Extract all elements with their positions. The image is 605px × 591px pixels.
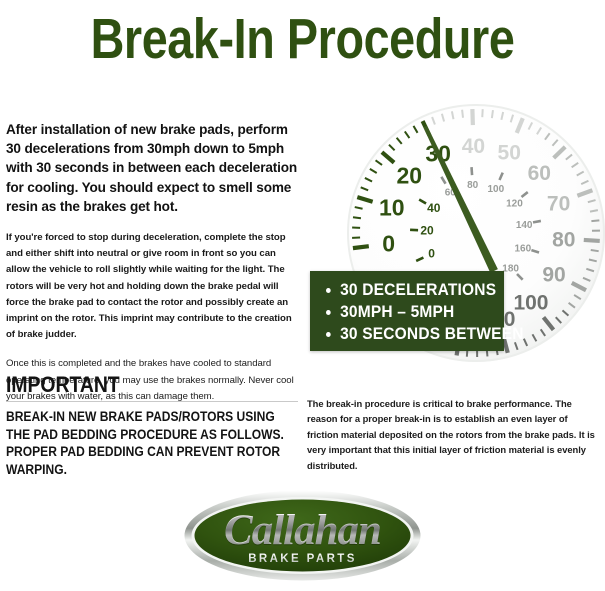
gauge-tick: [511, 115, 513, 123]
gauge-kmh-labels: 020406080100120140160180: [420, 180, 533, 275]
gauge-mph-label: 10: [379, 195, 405, 221]
gauge-tick: [543, 317, 553, 329]
gauge-tick: [589, 259, 597, 261]
gauge-tick: [556, 317, 562, 323]
gauge-kmh-tick: [419, 199, 426, 203]
gauge-mph-label: 90: [542, 264, 565, 287]
gauge-tick: [452, 111, 454, 119]
procedure-callout-box: 30 DECELERATIONS 30MPH – 5MPH 30 SECONDS…: [310, 271, 504, 351]
gauge-tick: [365, 178, 372, 182]
gauge-tick: [588, 200, 596, 202]
gauge-mph-label: 100: [513, 292, 548, 315]
gauge-kmh-label: 100: [487, 184, 504, 195]
gauge-mph-label: 30: [425, 141, 451, 167]
gauge-tick: [572, 163, 579, 168]
gauge-tick: [537, 128, 541, 135]
gauge-mph-label: 40: [462, 135, 485, 158]
gauge-tick: [414, 126, 418, 133]
logo-oval-shape: [183, 489, 422, 582]
gauge-tick: [370, 169, 377, 173]
gauge-tick: [591, 250, 599, 251]
gauge-kmh-tick: [416, 258, 423, 261]
gauge-tick: [353, 246, 369, 248]
gauge-tick: [524, 339, 527, 346]
gauge-tick: [357, 197, 372, 202]
gauge-kmh-tick: [522, 192, 528, 197]
gauge-tick: [353, 217, 361, 218]
gauge-tick: [423, 121, 430, 135]
gauge-mph-label: 50: [498, 142, 521, 165]
callout-list: 30 DECELERATIONS 30MPH – 5MPH 30 SECONDS…: [310, 271, 504, 345]
gauge-tick: [586, 269, 594, 271]
gauge-tick: [382, 152, 394, 162]
poster-root: Break-In Procedure 010203040506070809010…: [0, 0, 605, 591]
gauge-kmh-label: 180: [502, 264, 519, 275]
gauge-kmh-tick: [472, 167, 473, 175]
right-paragraph: The break-in procedure is critical to br…: [307, 396, 599, 473]
gauge-kmh-tick: [441, 177, 445, 184]
important-section: IMPORTANT BREAK-IN NEW BRAKE PADS/ROTORS…: [6, 373, 298, 478]
gauge-tick: [492, 110, 493, 118]
callahan-logo: Callahan BRAKE PARTS: [183, 489, 422, 582]
lead-paragraph: After installation of new brake pads, pe…: [6, 120, 298, 216]
gauge-tick: [405, 131, 410, 138]
gauge-tick: [554, 147, 566, 158]
gauge-kmh-ticks: [410, 167, 541, 280]
gauge-kmh-label: 160: [514, 244, 531, 255]
gauge-tick: [517, 118, 523, 133]
gauge-tick: [583, 278, 590, 281]
gauge-tick: [442, 114, 444, 122]
gauge-tick: [532, 334, 536, 341]
gauge-mph-label: 80: [552, 229, 575, 252]
gauge-tick: [355, 207, 363, 209]
gauge-tick: [562, 310, 568, 315]
gauge-tick: [432, 117, 435, 124]
gauge-kmh-label: 60: [445, 187, 457, 198]
gauge-tick: [541, 329, 545, 336]
gauge-kmh-label: 120: [506, 199, 523, 210]
left-text-column: After installation of new brake pads, pe…: [6, 120, 298, 405]
gauge-mph-label: 70: [547, 193, 570, 216]
gauge-tick: [584, 240, 600, 241]
important-divider: [6, 401, 298, 402]
callout-item-interval: 30 SECONDS BETWEEN: [326, 323, 493, 345]
gauge-mph-label: 60: [528, 162, 551, 185]
gauge-kmh-label: 140: [516, 220, 533, 231]
gauge-tick: [569, 303, 575, 308]
gauge-tick: [501, 112, 503, 120]
gauge-tick: [529, 122, 533, 129]
gauge-kmh-label: 40: [427, 201, 441, 215]
gauge-tick: [462, 110, 463, 118]
gauge-tick: [376, 160, 382, 165]
gauge-tick: [361, 187, 368, 190]
gauge-kmh-label: 20: [420, 224, 434, 238]
gauge-kmh-tick: [517, 274, 523, 280]
gauge-tick: [581, 181, 588, 184]
gauge-needle-pointer: [423, 126, 497, 273]
page-title: Break-In Procedure: [54, 8, 550, 70]
callout-item-decelerations: 30 DECELERATIONS: [326, 279, 493, 301]
gauge-kmh-tick: [533, 221, 541, 222]
gauge-tick: [552, 140, 557, 146]
gauge-tick: [566, 155, 572, 160]
important-heading: IMPORTANT: [6, 373, 263, 397]
gauge-tick: [574, 295, 581, 299]
gauge-mph-label: 20: [396, 163, 422, 189]
gauge-mph-label: 0: [382, 231, 395, 257]
gauge-tick: [577, 190, 592, 196]
logo-oval-fill: [195, 500, 411, 572]
callout-item-speed-range: 30MPH – 5MPH: [326, 301, 493, 323]
gauge-tick: [591, 220, 599, 221]
gauge-tick: [577, 172, 584, 176]
gauge-kmh-label: 0: [428, 247, 435, 261]
important-body-text: BREAK-IN NEW BRAKE PADS/ROTORS USING THE…: [6, 408, 296, 478]
gauge-kmh-tick: [499, 173, 502, 180]
gauge-kmh-label: 80: [467, 180, 479, 191]
gauge-tick: [590, 210, 598, 211]
second-paragraph: If you're forced to stop during decelera…: [6, 230, 298, 343]
gauge-tick: [397, 138, 402, 144]
gauge-tick: [545, 133, 550, 139]
gauge-needle: [423, 126, 497, 273]
gauge-tick: [515, 342, 518, 350]
gauge-kmh-tick: [531, 250, 539, 252]
gauge-tick: [389, 145, 395, 151]
gauge-tick: [572, 283, 586, 290]
